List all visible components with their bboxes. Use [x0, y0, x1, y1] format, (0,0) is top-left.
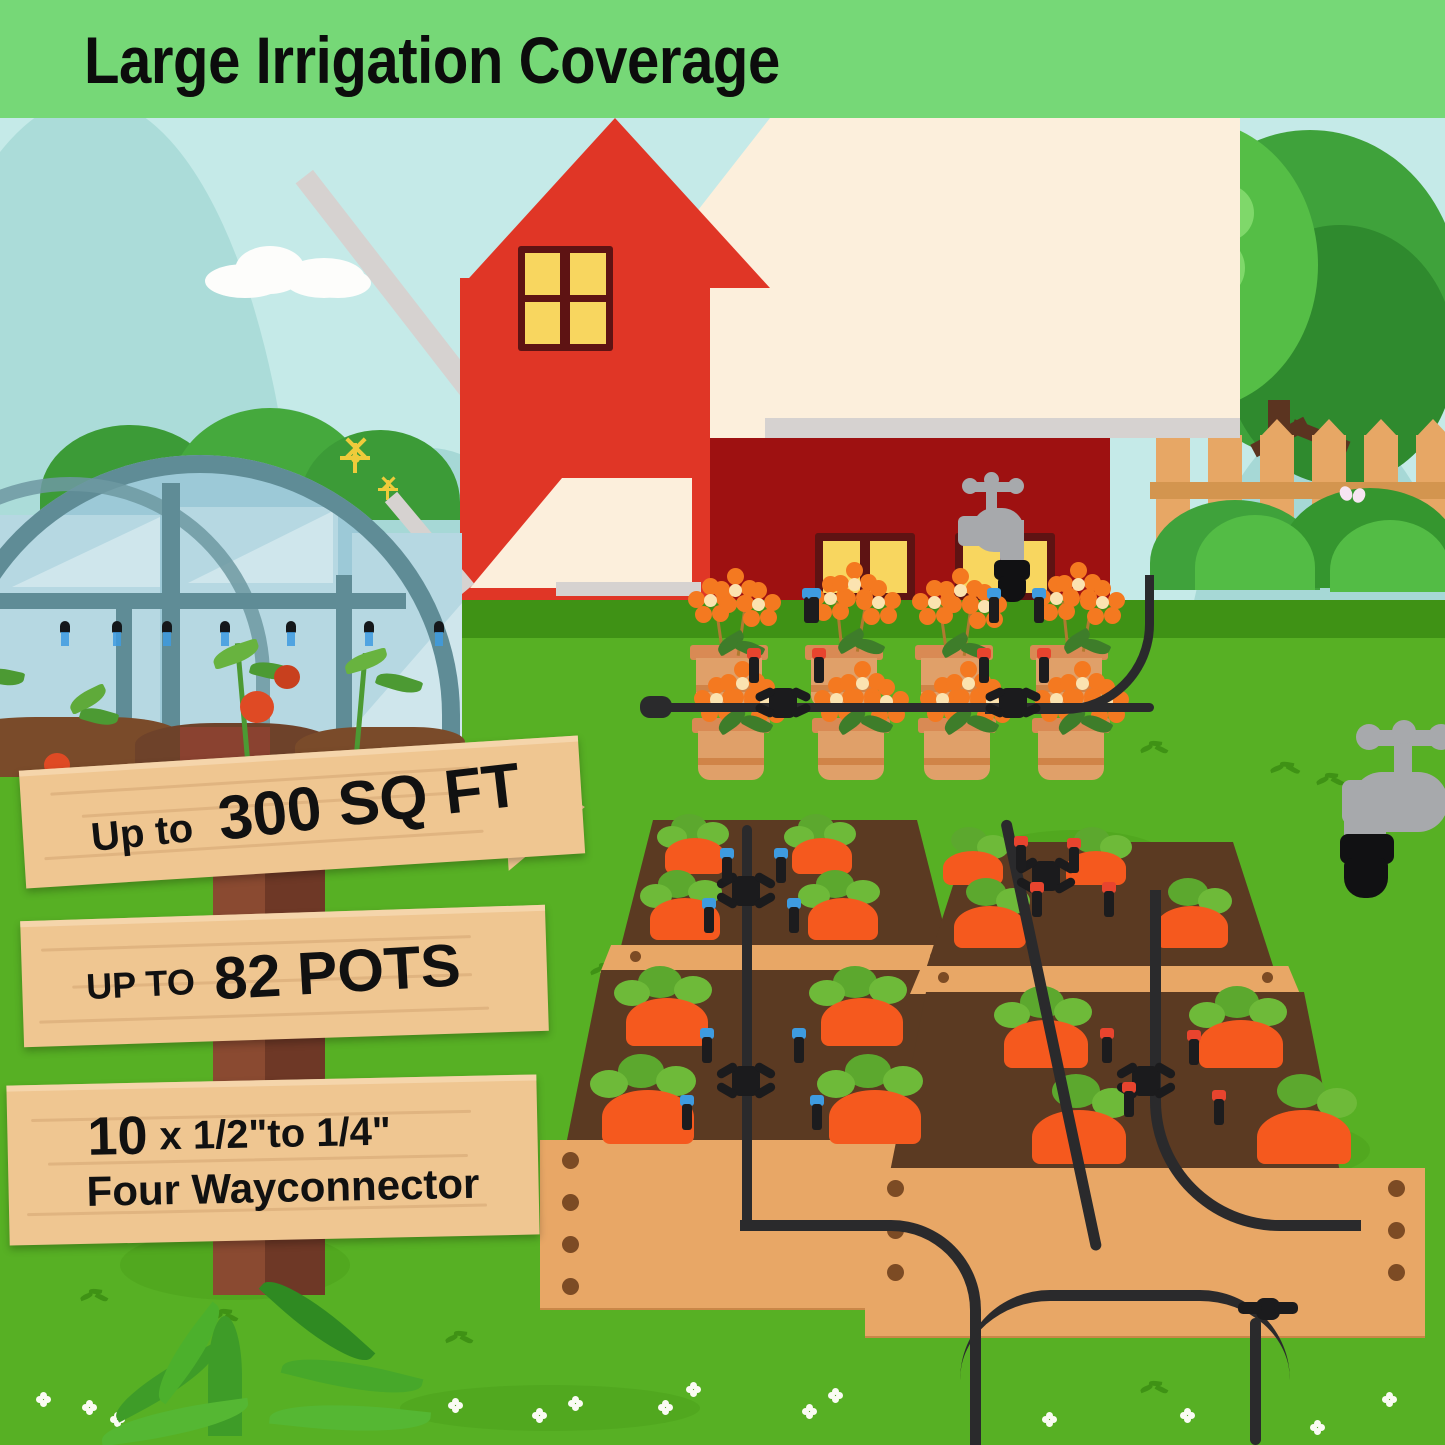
hose-garden-main	[1150, 890, 1361, 1231]
white-flower	[532, 1408, 547, 1423]
header-bar: Large Irrigation Coverage	[0, 0, 1445, 118]
hose-left-tail	[740, 1220, 981, 1445]
sign-board-pots[interactable]: UP TO 82 POTS	[20, 905, 549, 1047]
dripper-blue	[808, 1095, 826, 1129]
sign-connector-size: x 1/2"to 1/4"	[159, 1110, 391, 1160]
white-flower	[568, 1396, 583, 1411]
tomato	[240, 691, 274, 723]
dripper-blue	[718, 848, 736, 882]
white-flower	[686, 1382, 701, 1397]
hose-tee-connector	[1240, 1290, 1296, 1332]
dripper-blue	[790, 1028, 808, 1062]
grass-tuft	[1270, 760, 1300, 776]
dripper-red	[1100, 882, 1118, 916]
greenhouse-mister	[432, 621, 446, 639]
sign-connector-count: 10	[87, 1105, 148, 1168]
white-flower	[36, 1392, 51, 1407]
sign-board-connector[interactable]: 10 x 1/2"to 1/4" Four Wayconnector	[6, 1074, 539, 1245]
dripper-red	[1028, 882, 1046, 916]
dripper-blue	[1030, 588, 1048, 622]
dripper-blue	[785, 898, 803, 932]
sign-connector-name: Four Wayconnector	[86, 1160, 480, 1216]
four-way-connector	[985, 682, 1041, 724]
tomato	[274, 665, 300, 689]
sign-pots-value: 82 POTS	[212, 930, 462, 1013]
dripper-blue	[678, 1095, 696, 1129]
greenhouse-mister	[110, 621, 124, 639]
dripper-blue	[698, 1028, 716, 1062]
white-flower	[1310, 1420, 1325, 1435]
white-flower	[448, 1398, 463, 1413]
dripper-red	[1098, 1028, 1116, 1062]
dripper-red	[1120, 1082, 1138, 1116]
dripper-blue	[985, 588, 1003, 622]
dripper-red	[1035, 648, 1053, 682]
white-flower	[82, 1400, 97, 1415]
page-title: Large Irrigation Coverage	[84, 22, 780, 98]
drip-line-upper	[640, 690, 1160, 730]
white-flower	[658, 1400, 673, 1415]
flower-cluster	[688, 568, 788, 658]
faucet-garden	[1300, 726, 1445, 916]
greenhouse-mister	[160, 621, 174, 639]
sign-board-sqft[interactable]: Up to 300 SQ FT	[19, 736, 585, 889]
dripper-red	[1210, 1090, 1228, 1124]
house	[400, 118, 1230, 638]
greenhouse-mister	[284, 621, 298, 639]
foreground-grass-clump	[100, 1300, 430, 1445]
house-gable	[460, 118, 770, 288]
greenhouse-mister	[362, 621, 376, 639]
sign-sqft-prefix: Up to	[89, 806, 195, 861]
dripper-red	[1065, 838, 1083, 872]
white-flower	[1382, 1392, 1397, 1407]
dripper-red	[975, 648, 993, 682]
grass-tuft	[1140, 740, 1168, 756]
dripper-red	[1185, 1030, 1203, 1064]
feature-signpost: Up to 300 SQ FT UP TO 82 POTS 10 x 1/2"t…	[0, 735, 620, 1295]
dripper-red	[810, 648, 828, 682]
grass-patch	[400, 1385, 700, 1431]
four-way-connector	[755, 682, 811, 724]
dripper-blue	[700, 898, 718, 932]
butterfly-icon	[1340, 486, 1366, 506]
dripper-blue	[805, 588, 823, 622]
grass-tuft	[445, 1330, 473, 1346]
dripper-blue	[772, 848, 790, 882]
dripper-red	[745, 648, 763, 682]
roof-edge-bottom	[765, 418, 1240, 438]
hose-drop	[1250, 1318, 1261, 1445]
sign-pots-prefix: UP TO	[85, 961, 196, 1008]
greenhouse-mister	[58, 621, 72, 639]
product-infographic: Up to 300 SQ FT UP TO 82 POTS 10 x 1/2"t…	[0, 0, 1445, 1445]
greenhouse-mister	[218, 621, 232, 639]
four-way-connector	[718, 1060, 774, 1102]
dripper-red	[1012, 836, 1030, 870]
house-window-upper	[518, 246, 613, 351]
